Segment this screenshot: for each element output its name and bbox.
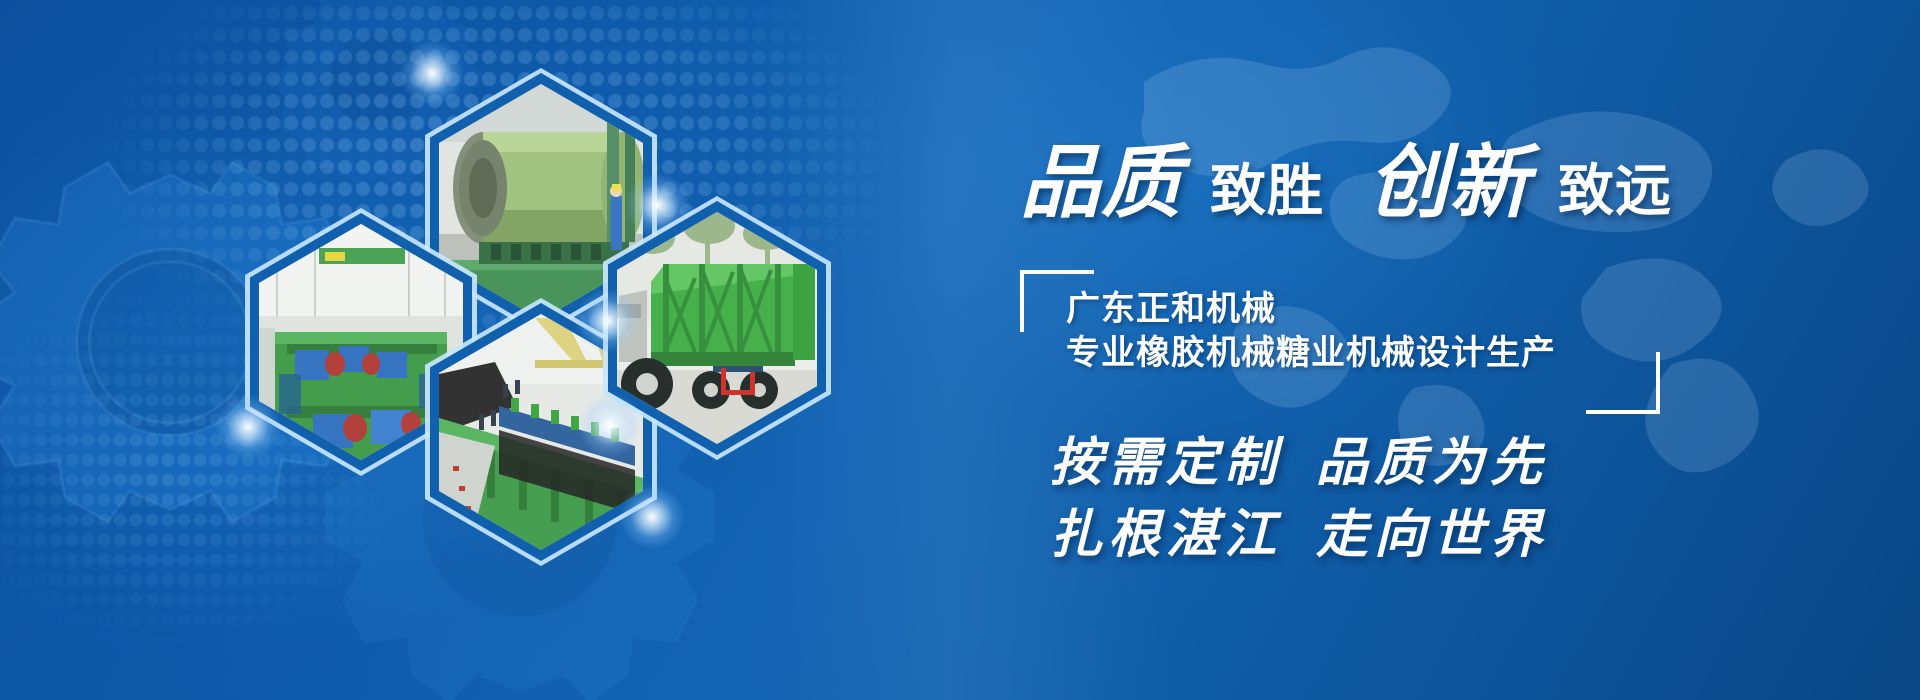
- slogan-2-right: 走向世界: [1316, 507, 1548, 564]
- subtitle-block: 广东正和机械 专业橡胶机械糖业机械设计生产: [1020, 270, 1640, 410]
- slogan-row-1: 按需定制品质为先: [1050, 428, 1548, 500]
- slogan-block: 按需定制品质为先 扎根湛江走向世界: [1050, 428, 1548, 572]
- subtitle-line-2: 专业橡胶机械糖业机械设计生产: [1066, 330, 1556, 376]
- headline-part1-light: 致胜: [1210, 159, 1324, 222]
- headline: 品质致胜创新致远: [1020, 118, 1672, 234]
- slogan-row-2: 扎根湛江走向世界: [1050, 500, 1548, 572]
- headline-part1-bold: 品质: [1020, 140, 1182, 228]
- banner-copy: 品质致胜创新致远 广东正和机械 专业橡胶机械糖业机械设计生产 按需定制品质为先 …: [1020, 0, 1780, 700]
- promo-banner: 品质致胜创新致远 广东正和机械 专业橡胶机械糖业机械设计生产 按需定制品质为先 …: [0, 0, 1920, 700]
- subtitle-line-1: 广东正和机械: [1066, 286, 1276, 332]
- headline-part2-bold: 创新: [1368, 140, 1530, 228]
- slogan-2-left: 扎根湛江: [1050, 507, 1282, 564]
- hexagon-photo-cluster: [0, 0, 1000, 700]
- hex-photo-cane-transport-trailer[interactable]: [603, 196, 831, 460]
- sparkle-icon: [399, 40, 465, 106]
- headline-part2-light: 致远: [1558, 159, 1672, 222]
- slogan-1-right: 品质为先: [1316, 435, 1548, 492]
- slogan-1-left: 按需定制: [1050, 435, 1282, 492]
- bracket-bottom-right-icon: [1586, 352, 1660, 414]
